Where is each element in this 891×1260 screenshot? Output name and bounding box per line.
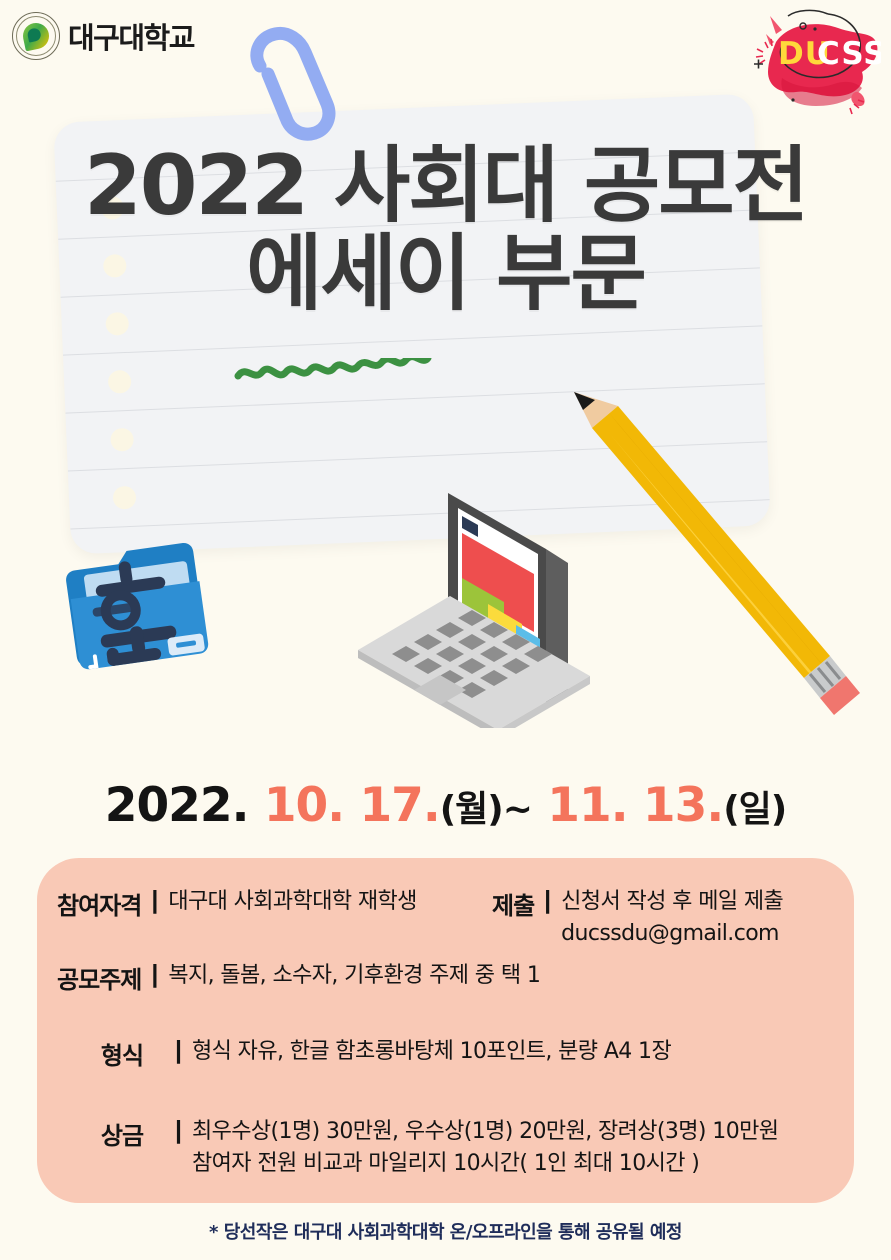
divider: | — [175, 1116, 182, 1145]
info-value-submission: 신청서 작성 후 메일 제출 ducssdu@gmail.com — [561, 886, 783, 950]
squiggle-underline-icon — [232, 358, 482, 388]
divider: | — [151, 886, 158, 915]
info-value-eligibility: 대구대 사회과학대학 재학생 — [168, 886, 416, 918]
divider: | — [175, 1036, 182, 1065]
university-name: 대구대학교 — [68, 15, 194, 57]
info-row-eligibility: 참여자격 | 대구대 사회과학대학 재학생 — [57, 886, 417, 921]
date-year: 2022. — [105, 778, 249, 833]
event-date-line: 2022. 10. 17.(월)~ 11. 13.(일) — [0, 778, 891, 833]
poster-canvas: 대구대학교 DU CSS — [0, 0, 891, 1260]
info-label-prize: 상금 — [79, 1116, 165, 1151]
date-end-day: (일) — [723, 789, 786, 830]
info-row-submission: 제출 | 신청서 작성 후 메일 제출 ducssdu@gmail.com — [492, 886, 783, 950]
pencil-illustration — [548, 378, 868, 718]
title-line-2: 에세이 부문 — [0, 234, 891, 314]
info-label-topic: 공모주제 — [57, 960, 141, 995]
submission-email[interactable]: ducssdu@gmail.com — [561, 921, 779, 946]
paperclip-icon — [238, 22, 358, 147]
university-logo: 대구대학교 — [12, 12, 194, 60]
info-row-format: 형식 | 형식 자유, 한글 함초롱바탕체 10포인트, 분량 A4 1장 — [79, 1036, 671, 1071]
info-value-format: 형식 자유, 한글 함초롱바탕체 10포인트, 분량 A4 1장 — [192, 1036, 671, 1068]
info-label-submission: 제출 — [492, 886, 534, 921]
ducss-css-text: CSS — [817, 36, 881, 72]
info-row-topic: 공모주제 | 복지, 돌봄, 소수자, 기후환경 주제 중 택 1 — [57, 960, 540, 995]
daegu-university-emblem-icon — [12, 12, 60, 60]
info-label-eligibility: 참여자격 — [57, 886, 141, 921]
folder-illustration — [53, 524, 221, 684]
date-start-day: (월)~ — [440, 789, 532, 830]
info-label-format: 형식 — [79, 1036, 165, 1071]
divider: | — [544, 886, 551, 915]
info-value-topic: 복지, 돌봄, 소수자, 기후환경 주제 중 택 1 — [168, 960, 540, 992]
prize-line-1: 최우수상(1명) 30만원, 우수상(1명) 20만원, 장려상(3명) 10만… — [192, 1119, 778, 1144]
divider: | — [151, 960, 158, 989]
ducss-club-logo: DU CSS — [746, 8, 881, 116]
date-end: 11. 13. — [547, 778, 723, 833]
info-row-prize: 상금 | 최우수상(1명) 30만원, 우수상(1명) 20만원, 장려상(3명… — [79, 1116, 778, 1180]
footnote: * 당선작은 대구대 사회과학대학 온/오프라인을 통해 공유될 예정 — [0, 1218, 891, 1244]
info-panel: 참여자격 | 대구대 사회과학대학 재학생 제출 | 신청서 작성 후 메일 제… — [37, 858, 854, 1203]
date-start: 10. 17. — [264, 778, 440, 833]
info-value-prize: 최우수상(1명) 30만원, 우수상(1명) 20만원, 장려상(3명) 10만… — [192, 1116, 778, 1180]
submission-instruction: 신청서 작성 후 메일 제출 — [561, 889, 783, 914]
page-title: 2022 사회대 공모전 에세이 부문 — [0, 146, 891, 313]
prize-line-2: 참여자 전원 비교과 마일리지 10시간( 1인 최대 10시간 ) — [192, 1151, 699, 1176]
title-line-1: 2022 사회대 공모전 — [0, 146, 891, 226]
